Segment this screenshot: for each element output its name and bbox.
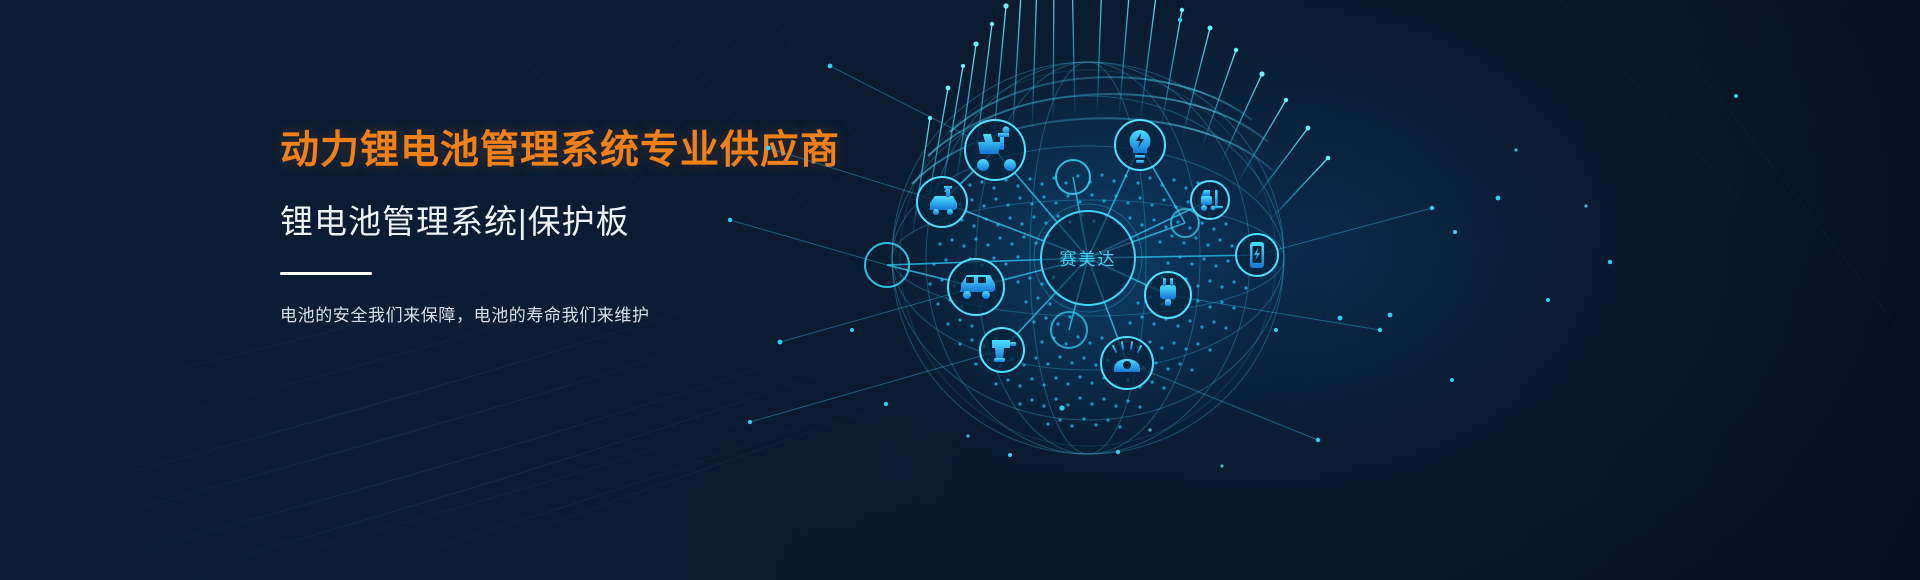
power-drill-icon <box>992 340 1016 362</box>
robot-vacuum-icon <box>1113 342 1141 372</box>
node-car <box>948 259 1004 315</box>
hero-banner: 动力锂电池管理系统专业供应商 锂电池管理系统|保护板 电池的安全我们来保障，电池… <box>0 0 1920 580</box>
node-empty-c <box>1051 312 1087 348</box>
node-robot-vacuum <box>1101 337 1153 389</box>
globe-glow <box>838 8 1338 508</box>
smartphone-icon <box>1250 242 1264 268</box>
globe-svg: 赛美达 <box>820 0 1520 580</box>
car-icon <box>960 275 995 299</box>
scooter-icon <box>977 126 1016 171</box>
globe-hub-node: 赛美达 <box>1034 204 1142 312</box>
title-divider <box>280 272 372 275</box>
network-globe-graphic: 赛美达 <box>820 0 1520 580</box>
node-empty-a <box>1056 160 1090 194</box>
node-power-drill <box>980 328 1024 372</box>
node-smartphone <box>1236 234 1278 276</box>
globe-dot-texture <box>928 173 1253 428</box>
node-scooter <box>965 120 1025 180</box>
ray-dots <box>928 0 1331 160</box>
hero-subheading: 锂电池管理系统|保护板 <box>280 202 840 242</box>
node-forklift <box>1191 181 1229 219</box>
globe-hub-label: 赛美达 <box>1060 249 1117 269</box>
globe-wireframe <box>892 62 1284 454</box>
lightbulb-icon <box>1130 130 1151 163</box>
hero-tagline: 电池的安全我们来保障，电池的寿命我们来维护 <box>280 301 840 326</box>
hero-text-block: 动力锂电池管理系统专业供应商 锂电池管理系统|保护板 电池的安全我们来保障，电池… <box>280 128 840 326</box>
node-plug <box>1145 272 1191 318</box>
globe-top-arcs <box>912 77 1272 184</box>
node-ev-car <box>917 177 967 227</box>
network-links <box>887 145 1257 363</box>
node-empty-b <box>865 243 909 287</box>
light-rays <box>912 0 1328 238</box>
page-title: 动力锂电池管理系统专业供应商 <box>280 128 840 174</box>
forklift-icon <box>1201 190 1223 211</box>
plug-icon <box>1160 278 1176 306</box>
ev-charge-car-icon <box>930 185 957 215</box>
node-empty-d <box>1171 209 1199 237</box>
node-lightbulb <box>1115 120 1165 170</box>
